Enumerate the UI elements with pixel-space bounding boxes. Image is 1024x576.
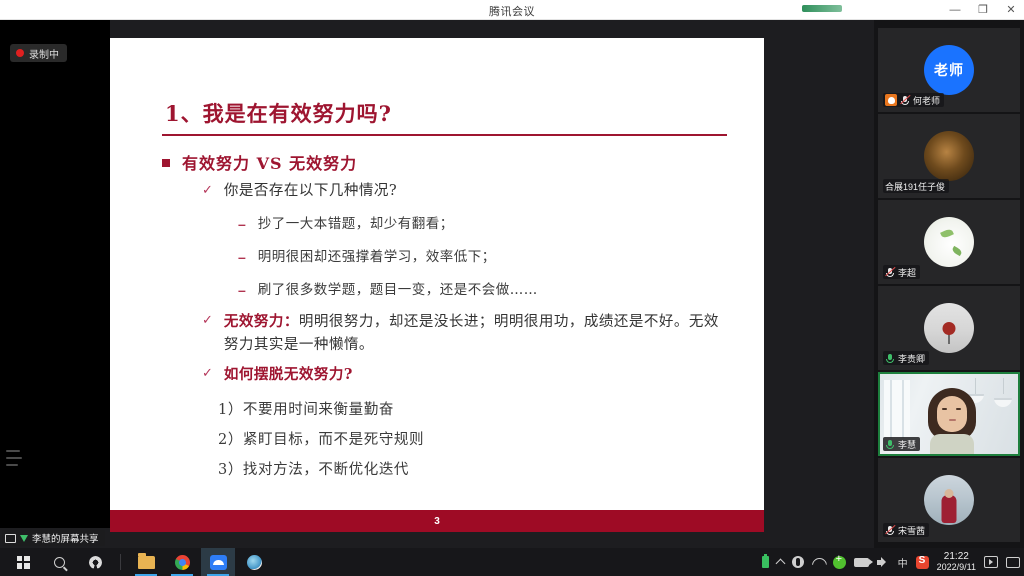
check-icon: ✓ bbox=[202, 180, 213, 199]
slide-page-number: 3 bbox=[434, 516, 440, 527]
participant-tile-active-speaker[interactable]: 李慧 bbox=[878, 372, 1020, 456]
onedrive-icon[interactable] bbox=[792, 556, 804, 568]
sogou-ime-icon[interactable] bbox=[916, 556, 929, 569]
check-icon: ✓ bbox=[202, 363, 213, 382]
slide-dash-1-text: 抄了一大本错题，却少有翻看； bbox=[258, 214, 454, 235]
tencent-meeting-icon bbox=[210, 555, 227, 570]
mic-on-icon bbox=[885, 439, 895, 450]
slide-check-item-1: ✓ 你是否存在以下几种情况? bbox=[202, 180, 397, 203]
participants-panel[interactable]: 老师 何老师 合展191任子俊 李超 李贵卿 bbox=[874, 20, 1024, 548]
shared-slide: 1、我是在有效努力吗? 有效努力 VS 无效努力 ✓ 你是否存在以下几种情况? … bbox=[110, 38, 764, 532]
dash-icon: – bbox=[238, 280, 246, 300]
slide-check-3-text: 如何摆脱无效努力? bbox=[224, 363, 353, 386]
left-rail: 录制中 bbox=[0, 20, 110, 528]
participant-namebar: 李贵卿 bbox=[883, 351, 929, 365]
system-tray: 中 21:22 2022/9/11 bbox=[762, 548, 1020, 576]
folder-icon bbox=[138, 556, 155, 569]
chrome-icon bbox=[175, 555, 190, 570]
chrome-button[interactable] bbox=[165, 548, 199, 576]
slide-numbered-2: 2）紧盯目标，而不是死守规则 bbox=[218, 428, 424, 449]
slide-dash-item-1: – 抄了一大本错题，却少有翻看； bbox=[238, 214, 454, 235]
avatar bbox=[924, 303, 974, 353]
window-title: 腾讯会议 bbox=[0, 3, 1024, 19]
participant-tile[interactable]: 李贵卿 bbox=[878, 286, 1020, 370]
maximize-icon[interactable]: ❐ bbox=[976, 1, 990, 19]
battery-icon[interactable] bbox=[762, 556, 769, 568]
participant-namebar: 李慧 bbox=[883, 437, 920, 451]
search-button[interactable] bbox=[42, 548, 76, 576]
mic-muted-icon bbox=[885, 525, 895, 536]
chevron-up-icon[interactable] bbox=[775, 559, 785, 569]
mic-muted-icon bbox=[885, 267, 895, 278]
taskbar-divider bbox=[120, 554, 121, 570]
slide-heading-text: 有效努力 VS 无效努力 bbox=[182, 150, 357, 174]
wifi-icon[interactable] bbox=[812, 557, 825, 567]
participant-tile[interactable]: 李超 bbox=[878, 200, 1020, 284]
windows-logo-icon bbox=[17, 556, 30, 569]
search-icon bbox=[54, 557, 65, 568]
file-explorer-button[interactable] bbox=[129, 548, 163, 576]
dash-icon: – bbox=[238, 247, 246, 267]
internet-explorer-icon bbox=[247, 555, 262, 570]
volume-icon[interactable] bbox=[877, 557, 890, 568]
slide-check-item-2: ✓ 无效努力：明明很努力，却还是没长进；明明很用功，成绩还是不好。无效努力其实是… bbox=[202, 310, 727, 357]
clock-date: 2022/9/11 bbox=[937, 562, 976, 573]
windows-taskbar: 李慧的屏幕共享 中 bbox=[0, 548, 1024, 576]
avatar bbox=[924, 131, 974, 181]
participant-name: 李超 bbox=[898, 266, 916, 279]
clock-time: 21:22 bbox=[937, 551, 976, 562]
participant-name: 李慧 bbox=[898, 438, 916, 451]
screen-share-tooltip: 李慧的屏幕共享 bbox=[2, 530, 105, 546]
ime-indicator[interactable]: 中 bbox=[898, 555, 908, 570]
slide-check-2-label: 无效努力： bbox=[224, 313, 299, 330]
action-center-icon[interactable] bbox=[984, 556, 998, 568]
recording-label: 录制中 bbox=[29, 46, 59, 61]
minimize-icon[interactable]: — bbox=[948, 1, 962, 19]
slide-numbered-3: 3）找对方法，不断优化迭代 bbox=[218, 458, 409, 479]
internet-explorer-button[interactable] bbox=[237, 548, 271, 576]
list-menu-icon[interactable] bbox=[6, 450, 24, 466]
window-controls: — ❐ ✕ bbox=[948, 1, 1018, 19]
participant-namebar: 宋雪茜 bbox=[883, 523, 929, 537]
slide-check-item-3: ✓ 如何摆脱无效努力? bbox=[202, 363, 353, 386]
slide-numbered-1: 1）不要用时间来衡量勤奋 bbox=[218, 398, 394, 419]
recording-dot-icon bbox=[16, 49, 24, 57]
slide-check-2-text: 无效努力：明明很努力，却还是没长进；明明很用功，成绩还是不好。无效努力其实是一种… bbox=[224, 310, 727, 357]
close-icon[interactable]: ✕ bbox=[1004, 1, 1018, 19]
square-bullet-icon bbox=[162, 159, 170, 167]
start-button[interactable] bbox=[6, 548, 40, 576]
taskbar-clock[interactable]: 21:22 2022/9/11 bbox=[937, 551, 976, 573]
avatar: 老师 bbox=[924, 45, 974, 95]
recording-badge: 录制中 bbox=[10, 44, 67, 62]
participant-tile[interactable]: 合展191任子俊 bbox=[878, 114, 1020, 198]
meeting-app-body: 录制中 1、我是在有效努力吗? 有效努力 VS 无效努力 ✓ 你是否存在以下几种… bbox=[0, 20, 1024, 548]
share-indicator-pill bbox=[802, 5, 842, 12]
participant-tile[interactable]: 老师 何老师 bbox=[878, 28, 1020, 112]
mic-muted-icon bbox=[900, 95, 910, 106]
notifications-icon[interactable] bbox=[1006, 557, 1020, 568]
dash-icon: – bbox=[238, 214, 246, 234]
slide-check-1-text: 你是否存在以下几种情况? bbox=[224, 180, 397, 203]
check-icon: ✓ bbox=[202, 310, 213, 329]
participant-namebar: 李超 bbox=[883, 265, 920, 279]
slide-title: 1、我是在有效努力吗? bbox=[165, 98, 392, 128]
avatar bbox=[924, 475, 974, 525]
participant-namebar: 合展191任子俊 bbox=[883, 179, 949, 193]
share-tooltip-label: 李慧的屏幕共享 bbox=[32, 531, 99, 545]
participant-name: 宋雪茜 bbox=[898, 524, 925, 537]
monitor-icon bbox=[5, 534, 16, 543]
slide-footer: 3 bbox=[110, 510, 764, 532]
camera-icon[interactable] bbox=[854, 558, 869, 567]
antivirus-icon[interactable] bbox=[833, 556, 846, 569]
slide-check-2-body: 明明很努力，却还是没长进；明明很用功，成绩还是不好。无效努力其实是一种懒惰。 bbox=[224, 314, 719, 353]
slide-dash-item-2: – 明明很困却还强撑着学习，效率低下； bbox=[238, 247, 496, 268]
cortana-button[interactable] bbox=[78, 548, 112, 576]
participant-name: 何老师 bbox=[913, 94, 940, 107]
participant-tile[interactable]: 宋雪茜 bbox=[878, 458, 1020, 542]
slide-dash-3-text: 刷了很多数学题，题目一变，还是不会做…… bbox=[258, 280, 538, 301]
avatar-initials: 老师 bbox=[934, 60, 964, 80]
host-icon bbox=[885, 94, 897, 106]
person-silhouette bbox=[924, 388, 980, 454]
slide-dash-2-text: 明明很困却还强撑着学习，效率低下； bbox=[258, 247, 496, 268]
slide-title-rule bbox=[162, 134, 727, 136]
participant-name: 李贵卿 bbox=[898, 352, 925, 365]
cortana-icon bbox=[89, 556, 102, 569]
participant-namebar: 何老师 bbox=[883, 93, 944, 107]
slide-dash-item-3: – 刷了很多数学题，题目一变，还是不会做…… bbox=[238, 280, 538, 301]
slide-heading: 有效努力 VS 无效努力 bbox=[162, 150, 357, 174]
mic-on-icon bbox=[885, 353, 895, 364]
avatar bbox=[924, 217, 974, 267]
share-arrow-icon bbox=[20, 535, 28, 542]
participant-name: 合展191任子俊 bbox=[885, 180, 945, 193]
tencent-meeting-button[interactable] bbox=[201, 548, 235, 576]
window-titlebar: 腾讯会议 — ❐ ✕ bbox=[0, 0, 1024, 20]
taskbar-app-icons bbox=[6, 548, 271, 576]
